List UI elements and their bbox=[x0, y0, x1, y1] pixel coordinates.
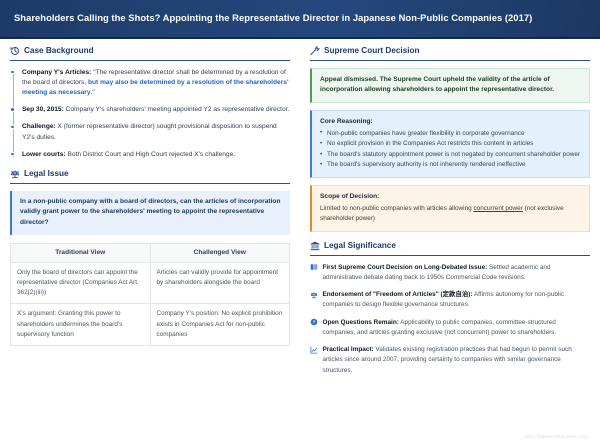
timeline-item-body: Both District Court and High Court rejec… bbox=[66, 151, 235, 158]
section-divider bbox=[310, 255, 590, 256]
list-item: The board's statutory appointment power … bbox=[320, 150, 581, 160]
legal-significance-heading: Legal Significance bbox=[310, 240, 590, 255]
significance-item: Practical Impact: Validates existing reg… bbox=[310, 345, 590, 376]
scales-icon bbox=[310, 291, 318, 299]
section-divider bbox=[10, 60, 290, 61]
timeline-item-body: Company Y's shareholders' meeting appoin… bbox=[64, 106, 290, 113]
list-item: Non-public companies have greater flexib… bbox=[320, 129, 581, 139]
significance-item-label: First Supreme Court Decision on Long-Deb… bbox=[323, 264, 488, 271]
significance-item-text: First Supreme Court Decision on Long-Deb… bbox=[323, 263, 591, 284]
supreme-court-title: Supreme Court Decision bbox=[324, 45, 420, 57]
infographic-page: Shareholders Calling the Shots? Appointi… bbox=[0, 0, 600, 445]
core-reasoning-list: Non-public companies have greater flexib… bbox=[320, 129, 581, 171]
significance-item: Endorsement of "Freedom of Articles" (定款… bbox=[310, 290, 590, 311]
timeline-dot-icon bbox=[10, 107, 14, 111]
svg-text:?: ? bbox=[313, 320, 316, 325]
section-legal-significance: Legal Significance First Supreme Court D… bbox=[310, 240, 590, 376]
table-cell: Only the board of directors can appoint … bbox=[11, 263, 151, 304]
clock-history-icon bbox=[10, 46, 20, 56]
timeline-item: Lower courts: Both District Court and Hi… bbox=[22, 150, 290, 160]
legal-significance-title: Legal Significance bbox=[324, 240, 396, 252]
scope-body: Limited to non-public companies with art… bbox=[320, 204, 581, 225]
column-header-challenged: Challenged View bbox=[150, 243, 290, 263]
timeline-item-label: Lower courts: bbox=[22, 151, 66, 158]
timeline-item-label: Sep 30, 2015: bbox=[22, 106, 64, 113]
table-cell: Articles can validly provide for appoint… bbox=[150, 263, 290, 304]
table-cell: Company Y's position: No explicit prohib… bbox=[150, 304, 290, 345]
supreme-court-heading: Supreme Court Decision bbox=[310, 45, 590, 60]
case-background-heading: Case Background bbox=[10, 45, 290, 60]
timeline-item-label: Challenge: bbox=[22, 123, 56, 130]
core-reasoning-title: Core Reasoning: bbox=[320, 117, 581, 127]
timeline-item-text: Challenge: X (former representative dire… bbox=[22, 122, 290, 142]
significance-item-label: Endorsement of "Freedom of Articles" (定款… bbox=[323, 291, 473, 298]
balance-scale-icon bbox=[10, 169, 20, 179]
significance-item: ? Open Questions Remain: Applicability t… bbox=[310, 318, 590, 339]
timeline-item-tail: ." bbox=[91, 89, 95, 96]
timeline-item: Sep 30, 2015: Company Y's shareholders' … bbox=[22, 105, 290, 115]
legal-issue-title: Legal Issue bbox=[24, 168, 69, 180]
timeline-item-text: Lower courts: Both District Court and Hi… bbox=[22, 150, 290, 160]
timeline-dot-icon bbox=[10, 152, 14, 156]
legal-issue-heading: Legal Issue bbox=[10, 168, 290, 183]
case-background-title: Case Background bbox=[24, 45, 94, 57]
scope-title: Scope of Decision: bbox=[320, 192, 581, 202]
table-row: X's argument: Granting this power to sha… bbox=[11, 304, 290, 345]
table-cell: X's argument: Granting this power to sha… bbox=[11, 304, 151, 345]
timeline-item-body: X (former representative director) sough… bbox=[22, 123, 277, 140]
page-title: Shareholders Calling the Shots? Appointi… bbox=[14, 11, 586, 25]
page-header: Shareholders Calling the Shots? Appointi… bbox=[0, 0, 600, 39]
section-divider bbox=[10, 183, 290, 184]
significance-item-text: Open Questions Remain: Applicability to … bbox=[323, 318, 591, 339]
right-column: Supreme Court Decision Appeal dismissed.… bbox=[300, 45, 600, 445]
content-columns: Case Background Company Y's Articles: "T… bbox=[0, 39, 600, 445]
core-reasoning-box: Core Reasoning: Non-public companies hav… bbox=[310, 110, 590, 178]
scope-text-before: Limited to non-public companies with art… bbox=[320, 205, 473, 212]
timeline-item-label: Company Y's Articles: bbox=[22, 69, 91, 76]
table-row: Only the board of directors can appoint … bbox=[11, 263, 290, 304]
scope-of-decision-box: Scope of Decision: Limited to non-public… bbox=[310, 185, 590, 232]
column-header-traditional: Traditional View bbox=[11, 243, 151, 263]
left-column: Case Background Company Y's Articles: "T… bbox=[0, 45, 300, 445]
section-divider bbox=[310, 60, 590, 61]
list-item: No explicit provision in the Companies A… bbox=[320, 139, 581, 149]
significance-item-label: Open Questions Remain: bbox=[323, 319, 399, 326]
section-legal-issue: Legal Issue In a non-public company with… bbox=[10, 168, 290, 346]
court-holding-box: Appeal dismissed. The Supreme Court uphe… bbox=[310, 68, 590, 103]
case-background-timeline: Company Y's Articles: "The representativ… bbox=[10, 68, 290, 161]
timeline-dot-icon bbox=[10, 125, 14, 129]
timeline-item: Company Y's Articles: "The representativ… bbox=[22, 68, 290, 99]
views-comparison-table: Traditional View Challenged View Only th… bbox=[10, 243, 290, 346]
chart-line-icon bbox=[310, 346, 318, 354]
timeline-item-text: Sep 30, 2015: Company Y's shareholders' … bbox=[22, 105, 290, 115]
significance-item-text: Practical Impact: Validates existing reg… bbox=[323, 345, 591, 376]
list-item: The board's supervisory authority is not… bbox=[320, 160, 581, 170]
timeline-item: Challenge: X (former representative dire… bbox=[22, 122, 290, 142]
legal-issue-question: In a non-public company with a board of … bbox=[10, 191, 290, 235]
section-case-background: Case Background Company Y's Articles: "T… bbox=[10, 45, 290, 160]
section-supreme-court-decision: Supreme Court Decision Appeal dismissed.… bbox=[310, 45, 590, 232]
gavel-icon bbox=[310, 46, 320, 56]
question-circle-icon: ? bbox=[310, 318, 318, 326]
timeline-item-text: Company Y's Articles: "The representativ… bbox=[22, 68, 290, 99]
significance-item-text: Endorsement of "Freedom of Articles" (定款… bbox=[323, 290, 591, 311]
table-header-row: Traditional View Challenged View bbox=[11, 243, 290, 263]
timeline-dot-icon bbox=[10, 70, 14, 74]
scope-underlined-term: concurrent power bbox=[473, 205, 522, 212]
significance-item-label: Practical Impact: bbox=[323, 346, 374, 353]
significance-item: First Supreme Court Decision on Long-Deb… bbox=[310, 263, 590, 284]
institution-icon bbox=[310, 241, 320, 251]
book-icon bbox=[310, 263, 318, 271]
footer-url: https://japancompliance.com/ bbox=[524, 434, 588, 441]
